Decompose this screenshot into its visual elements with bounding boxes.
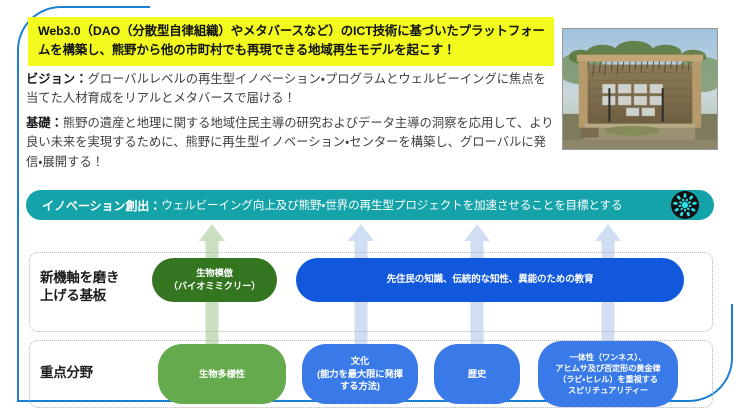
- row-label-focus-areas: 重点分野: [40, 364, 150, 382]
- frame-mask-top: [150, 0, 736, 12]
- innovation-banner-label: イノベーション創出：: [42, 197, 161, 214]
- row-label-foundation: 新機軸を磨き上げる基板: [40, 269, 150, 305]
- burst-circle-icon: [670, 190, 700, 220]
- pill-culture[interactable]: 文化(能力を最大限に発揮する方法): [302, 344, 418, 404]
- headline-banner: Web3.0（DAO（分散型自律組織）やメタバースなど）のICT技術に基づいたプ…: [28, 17, 554, 66]
- vision-paragraph: ビジョン：グローバルレベルの再生型イノベーション・プログラムとウェルビーイングに…: [26, 70, 554, 109]
- pill-biodiversity[interactable]: 生物多様性: [158, 344, 286, 404]
- innovation-banner-text: ウェルビーイング向上及び熊野・世界の再生型プロジェクトを加速させることを目標とす…: [161, 197, 622, 213]
- foundation-text: 熊野の遺産と地理に関する地域住民主導の研究およびデータ主導の洞察を応用して、より…: [26, 116, 554, 169]
- photo-thumbnail: [562, 28, 718, 150]
- slide-canvas: Web3.0（DAO（分散型自律組織）やメタバースなど）のICT技術に基づいたプ…: [0, 0, 736, 414]
- body-text-block: ビジョン：グローバルレベルの再生型イノベーション・プログラムとウェルビーイングに…: [26, 70, 554, 177]
- vision-text: グローバルレベルの再生型イノベーション・プログラムとウェルビーイングに焦点を当て…: [26, 72, 546, 105]
- pill-indigenous-knowledge[interactable]: 先住民の知識、伝統的な知性、異能のための教育: [296, 258, 684, 302]
- photo-illustration: [563, 29, 717, 149]
- foundation-paragraph: 基礎：熊野の遺産と地理に関する地域住民主導の研究およびデータ主導の洞察を応用して…: [26, 114, 554, 172]
- foundation-label: 基礎：: [26, 116, 63, 130]
- pill-spirituality[interactable]: 一体性（ワンネス）、アヒムサ及び否定形の黄金律（ラビ・ヒレル）を重視するスピリチ…: [538, 341, 678, 407]
- pill-biomimicry[interactable]: 生物模倣（バイオミミクリー）: [152, 258, 277, 302]
- headline-text: Web3.0（DAO（分散型自律組織）やメタバースなど）のICT技術に基づいたプ…: [38, 24, 545, 57]
- vision-label: ビジョン：: [26, 72, 88, 86]
- pill-history[interactable]: 歴史: [434, 344, 520, 404]
- frame-mask-right: [724, 4, 736, 304]
- innovation-banner: イノベーション創出：ウェルビーイング向上及び熊野・世界の再生型プロジェクトを加速…: [26, 190, 714, 220]
